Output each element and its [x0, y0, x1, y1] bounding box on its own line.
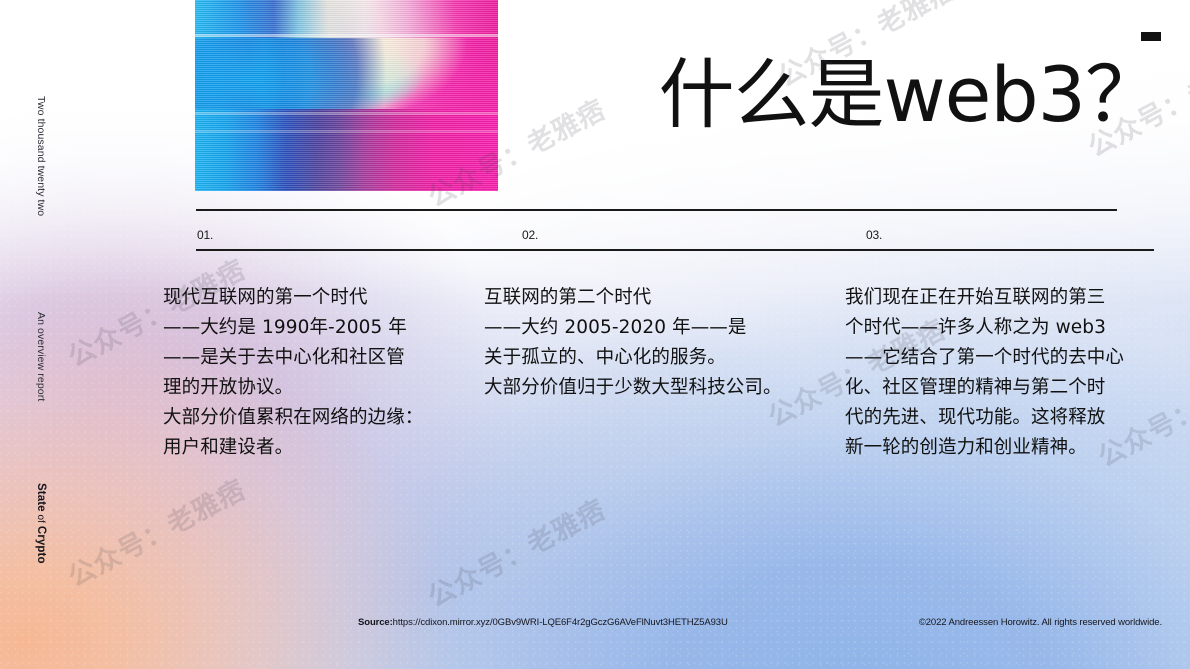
slide-canvas: 什么是web3？ 01. 02. 03. 现代互联网的第一个时代 ——大约是 1… — [0, 0, 1190, 669]
column-number-03: 03. — [866, 228, 882, 242]
glitch-gradient-image — [195, 0, 498, 191]
column-body-01: 现代互联网的第一个时代 ——大约是 1990年-2005 年 ——是关于去中心化… — [163, 283, 483, 463]
divider-upper — [196, 209, 1117, 211]
footer-source-label: Source: — [358, 617, 393, 628]
sidebar-label-report: An overview report — [35, 312, 47, 401]
sidebar-label-year: Two thousand twenty two — [35, 96, 47, 216]
column-body-02: 互联网的第二个时代 ——大约 2005-2020 年——是 关于孤立的、中心化的… — [484, 283, 819, 403]
column-body-03: 我们现在正在开始互联网的第三 个时代——许多人称之为 web3 ——它结合了第一… — [845, 283, 1165, 463]
brand-word-crypto: Crypto — [35, 526, 47, 564]
brand-word-state: State — [35, 483, 47, 512]
column-number-02: 02. — [522, 228, 538, 242]
footer-source: Source:https://cdixon.mirror.xyz/0GBv9WR… — [358, 617, 728, 628]
footer-source-url[interactable]: https://cdixon.mirror.xyz/0GBv9WRI-LQE6F… — [393, 617, 728, 628]
footer-copyright: ©2022 Andreessen Horowitz. All rights re… — [919, 617, 1162, 628]
corner-dash-marker — [1141, 32, 1161, 41]
glitch-scanlines — [195, 0, 498, 191]
column-number-01: 01. — [197, 228, 213, 242]
page-title: 什么是web3？ — [520, 55, 1160, 135]
divider-lower — [196, 249, 1154, 251]
sidebar-label-brand: State of Crypto — [35, 483, 47, 564]
brand-word-of: of — [35, 512, 46, 526]
